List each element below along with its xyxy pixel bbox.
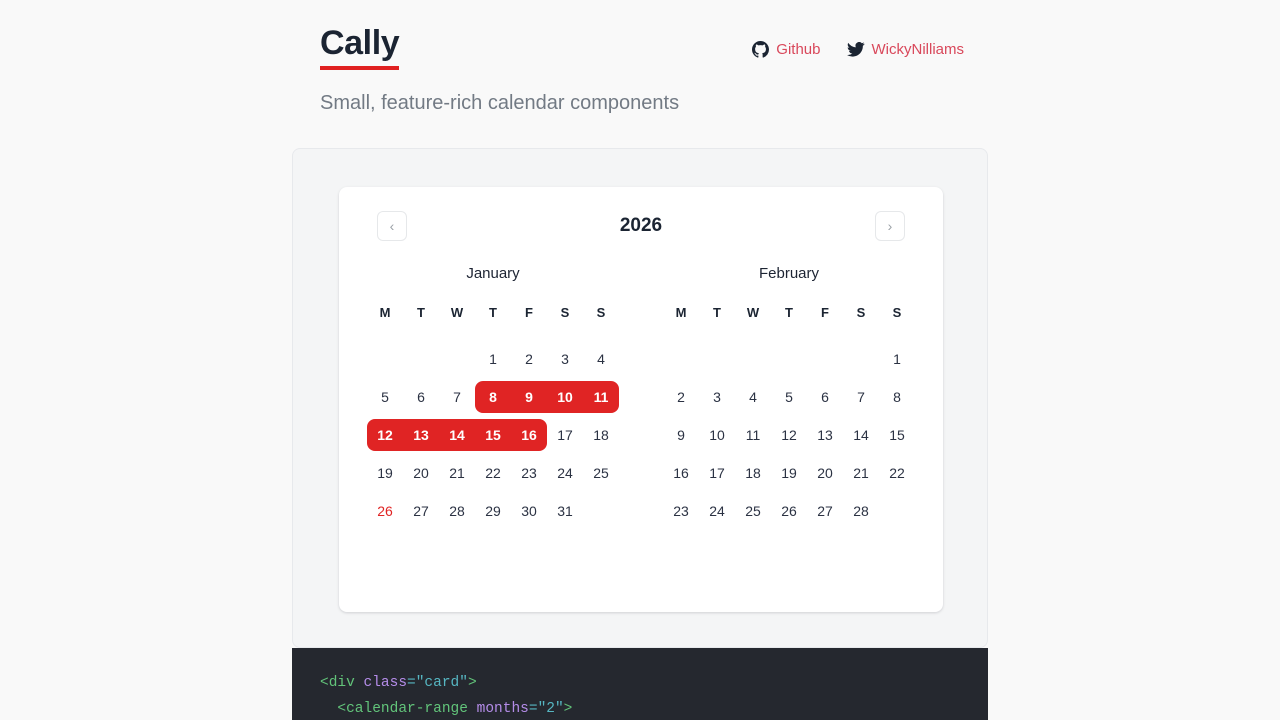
day-cell[interactable]: 1	[879, 340, 915, 378]
day-cell[interactable]: 20	[807, 454, 843, 492]
day-cell[interactable]: 13	[807, 416, 843, 454]
day-cell[interactable]: 10	[547, 378, 583, 416]
months-container: JanuaryMTWTFSS12345678910111213141516171…	[355, 265, 927, 530]
weekday-label: T	[699, 302, 735, 324]
code-token-tag: >	[468, 675, 477, 691]
weekday-label: W	[735, 302, 771, 324]
twitter-link-label: WickyNilliams	[872, 41, 965, 58]
previous-page-button[interactable]: ‹	[377, 211, 407, 241]
weekday-label: F	[511, 302, 547, 324]
day-cell[interactable]: 20	[403, 454, 439, 492]
code-token-tag: <div	[320, 675, 364, 691]
code-token-punct: =	[407, 675, 416, 691]
month-name: February	[663, 265, 915, 282]
day-cell[interactable]: 21	[439, 454, 475, 492]
day-cell[interactable]: 22	[475, 454, 511, 492]
day-cell[interactable]: 16	[511, 416, 547, 454]
day-cell[interactable]: 14	[843, 416, 879, 454]
day-cell[interactable]: 12	[771, 416, 807, 454]
demo-container: ‹ 2026 › JanuaryMTWTFSS12345678910111213…	[292, 148, 988, 648]
page-root: Cally Github Wicky	[0, 0, 1280, 720]
day-cell[interactable]: 7	[439, 378, 475, 416]
code-token-tag: >	[564, 701, 573, 717]
day-cell[interactable]: 19	[367, 454, 403, 492]
day-cell[interactable]: 23	[663, 492, 699, 530]
code-token-punct: =	[529, 701, 538, 717]
code-token-tag: <calendar-range	[320, 701, 477, 717]
day-cell[interactable]: 26	[771, 492, 807, 530]
github-icon	[752, 41, 769, 58]
day-cell[interactable]: 21	[843, 454, 879, 492]
github-link[interactable]: Github	[752, 41, 820, 58]
weekday-label: T	[403, 302, 439, 324]
weekday-label: M	[367, 302, 403, 324]
day-blank	[439, 340, 475, 378]
month-february: FebruaryMTWTFSS1234567891011121314151617…	[663, 265, 915, 530]
code-token-string: "2"	[538, 701, 564, 717]
day-cell[interactable]: 3	[699, 378, 735, 416]
day-cell[interactable]: 18	[735, 454, 771, 492]
day-cell[interactable]: 22	[879, 454, 915, 492]
day-cell[interactable]: 28	[843, 492, 879, 530]
day-cell[interactable]: 2	[511, 340, 547, 378]
day-cell[interactable]: 10	[699, 416, 735, 454]
month-january: JanuaryMTWTFSS12345678910111213141516171…	[367, 265, 619, 530]
calendar-card: ‹ 2026 › JanuaryMTWTFSS12345678910111213…	[339, 187, 943, 612]
day-cell[interactable]: 25	[583, 454, 619, 492]
days-grid: 1234567891011121314151617181920212223242…	[663, 340, 915, 530]
page-title[interactable]: Cally	[320, 24, 399, 70]
day-blank	[843, 340, 879, 378]
weekday-label: T	[475, 302, 511, 324]
twitter-link[interactable]: WickyNilliams	[847, 41, 965, 58]
day-cell[interactable]: 7	[843, 378, 879, 416]
day-cell[interactable]: 11	[583, 378, 619, 416]
tagline: Small, feature-rich calendar components	[320, 92, 964, 115]
day-cell[interactable]: 27	[807, 492, 843, 530]
day-cell[interactable]: 19	[771, 454, 807, 492]
day-cell[interactable]: 6	[403, 378, 439, 416]
github-link-label: Github	[776, 41, 820, 58]
day-cell[interactable]: 9	[663, 416, 699, 454]
day-cell[interactable]: 17	[547, 416, 583, 454]
day-cell[interactable]: 8	[475, 378, 511, 416]
next-page-button[interactable]: ›	[875, 211, 905, 241]
day-cell[interactable]: 29	[475, 492, 511, 530]
day-cell[interactable]: 5	[771, 378, 807, 416]
day-cell[interactable]: 1	[475, 340, 511, 378]
day-cell[interactable]: 4	[583, 340, 619, 378]
day-cell[interactable]: 17	[699, 454, 735, 492]
weekday-header-row: MTWTFSS	[367, 302, 619, 324]
day-cell[interactable]: 16	[663, 454, 699, 492]
day-cell[interactable]: 8	[879, 378, 915, 416]
day-blank	[663, 340, 699, 378]
day-cell[interactable]: 5	[367, 378, 403, 416]
day-blank	[771, 340, 807, 378]
day-cell[interactable]: 4	[735, 378, 771, 416]
twitter-icon	[847, 42, 865, 57]
day-cell[interactable]: 11	[735, 416, 771, 454]
weekday-label: W	[439, 302, 475, 324]
day-cell[interactable]: 2	[663, 378, 699, 416]
day-cell[interactable]: 28	[439, 492, 475, 530]
day-blank	[699, 340, 735, 378]
day-cell[interactable]: 15	[475, 416, 511, 454]
day-cell[interactable]: 13	[403, 416, 439, 454]
site-header: Cally Github Wicky	[320, 24, 964, 115]
header-row: Cally Github Wicky	[320, 24, 964, 70]
day-cell[interactable]: 6	[807, 378, 843, 416]
day-cell[interactable]: 24	[699, 492, 735, 530]
day-cell[interactable]: 24	[547, 454, 583, 492]
day-blank	[403, 340, 439, 378]
code-line: <div class="card">	[292, 670, 988, 696]
weekday-label: S	[843, 302, 879, 324]
day-cell[interactable]: 23	[511, 454, 547, 492]
header-links: Github WickyNilliams	[752, 41, 964, 58]
day-cell[interactable]: 26	[367, 492, 403, 530]
day-blank	[807, 340, 843, 378]
day-cell[interactable]: 30	[511, 492, 547, 530]
day-cell[interactable]: 3	[547, 340, 583, 378]
day-cell[interactable]: 15	[879, 416, 915, 454]
weekday-label: S	[547, 302, 583, 324]
weekday-label: T	[771, 302, 807, 324]
day-cell[interactable]: 31	[547, 492, 583, 530]
day-cell[interactable]: 27	[403, 492, 439, 530]
day-cell[interactable]: 25	[735, 492, 771, 530]
weekday-header-row: MTWTFSS	[663, 302, 915, 324]
days-grid: 1234567891011121314151617181920212223242…	[367, 340, 619, 530]
code-snippet: <div class="card"> <calendar-range month…	[292, 648, 988, 720]
weekday-label: S	[583, 302, 619, 324]
day-blank	[367, 340, 403, 378]
code-token-attr: class	[364, 675, 408, 691]
code-token-attr: months	[477, 701, 529, 717]
code-line: <calendar-range months="2">	[292, 696, 988, 720]
code-token-string: "card"	[416, 675, 468, 691]
weekday-label: M	[663, 302, 699, 324]
weekday-label: F	[807, 302, 843, 324]
month-name: January	[367, 265, 619, 282]
day-blank	[735, 340, 771, 378]
day-cell[interactable]: 9	[511, 378, 547, 416]
day-cell[interactable]: 12	[367, 416, 403, 454]
weekday-label: S	[879, 302, 915, 324]
calendar-year-heading: 2026	[620, 215, 662, 237]
day-cell[interactable]: 14	[439, 416, 475, 454]
calendar-toolbar: ‹ 2026 ›	[355, 209, 927, 243]
day-cell[interactable]: 18	[583, 416, 619, 454]
